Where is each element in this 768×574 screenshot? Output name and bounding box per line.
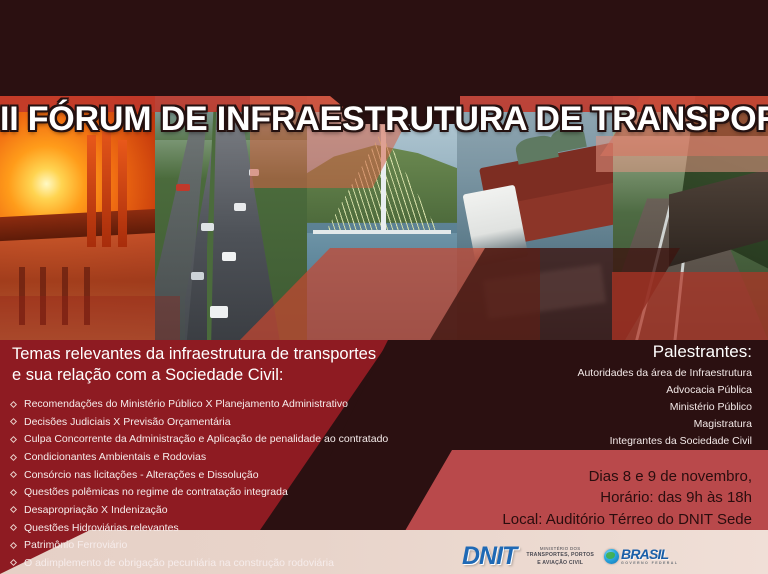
- list-item: Desapropriação X Indenização: [10, 504, 430, 517]
- vehicle: [249, 169, 259, 176]
- vehicle: [222, 252, 236, 261]
- list-item: O adimplemento de obrigação pecuniária n…: [10, 557, 430, 570]
- diamond-bullet-icon: [10, 471, 17, 478]
- logo-bar: DNIT MINISTÉRIO DOS TRANSPORTES, PORTOS …: [462, 544, 678, 569]
- theme-text: Decisões Judiciais X Previsão Orçamentár…: [24, 416, 231, 428]
- vehicle: [234, 203, 246, 211]
- event-place: Local: Auditório Térreo do DNIT Sede: [412, 509, 752, 530]
- diamond-bullet-icon: [10, 524, 17, 531]
- event-details-block: Dias 8 e 9 de novembro, Horário: das 9h …: [412, 466, 752, 530]
- diamond-bullet-icon: [10, 401, 17, 408]
- brasil-wordmark: BRASIL GOVERNO FEDERAL: [621, 547, 678, 566]
- speakers-title: Palestrantes:: [422, 342, 752, 362]
- globe-icon: [604, 549, 619, 564]
- vehicle: [201, 223, 214, 231]
- list-item: Condicionantes Ambientais e Rodovias: [10, 451, 430, 464]
- speakers-block: Palestrantes: Autoridades da área de Inf…: [422, 342, 752, 450]
- list-item: Magistratura: [422, 416, 752, 433]
- diamond-bullet-icon: [10, 436, 17, 443]
- diamond-bullet-icon: [10, 542, 17, 549]
- theme-text: Consórcio nas licitações - Alterações e …: [24, 469, 259, 481]
- bridge-deck: [313, 230, 451, 234]
- bridge-pylon: [102, 120, 111, 247]
- list-item: Questões polêmicas no regime de contrata…: [10, 486, 430, 499]
- theme-text: O adimplemento de obrigação pecuniária n…: [24, 557, 334, 569]
- bridge-tower: [381, 125, 386, 232]
- themes-heading-line-2: e sua relação com a Sociedade Civil:: [12, 366, 283, 384]
- list-item: Recomendações do Ministério Público X Pl…: [10, 398, 430, 411]
- speakers-list: Autoridades da área de Infraestrutura Ad…: [422, 365, 752, 450]
- list-item: Questões Hidroviárias relevantes: [10, 522, 430, 535]
- bridge-pylon: [87, 135, 96, 247]
- list-item: Advocacia Pública: [422, 382, 752, 399]
- themes-block: Temas relevantes da infraestrutura de tr…: [10, 344, 430, 574]
- theme-text: Patrimônio Ferroviário: [24, 539, 127, 551]
- bus: [176, 184, 190, 191]
- brasil-government-logo: BRASIL GOVERNO FEDERAL: [604, 547, 678, 566]
- brasil-sub-text: GOVERNO FEDERAL: [621, 562, 678, 566]
- themes-heading-line-1: Temas relevantes da infraestrutura de tr…: [12, 345, 376, 363]
- dnit-logo: DNIT: [462, 544, 516, 569]
- theme-text: Questões polêmicas no regime de contrata…: [24, 486, 288, 498]
- diamond-bullet-icon: [10, 489, 17, 496]
- list-item: Culpa Concorrente da Administração e Apl…: [10, 433, 430, 446]
- water-wake: [483, 264, 606, 319]
- list-item: Autoridades da área de Infraestrutura: [422, 365, 752, 382]
- theme-text: Desapropriação X Indenização: [24, 504, 168, 516]
- bus: [210, 306, 228, 318]
- list-item: Ministério Público: [422, 399, 752, 416]
- themes-heading: Temas relevantes da infraestrutura de tr…: [12, 344, 430, 386]
- event-time: Horário: das 9h às 18h: [412, 487, 752, 508]
- diamond-bullet-icon: [10, 559, 17, 566]
- diamond-bullet-icon: [10, 418, 17, 425]
- river-water: [307, 233, 457, 340]
- bridge-pier: [84, 267, 90, 326]
- theme-text: Culpa Concorrente da Administração e Apl…: [24, 433, 388, 445]
- bridge-pier: [19, 267, 25, 326]
- theme-text: Recomendações do Ministério Público X Pl…: [24, 398, 348, 410]
- diamond-bullet-icon: [10, 506, 17, 513]
- themes-list: Recomendações do Ministério Público X Pl…: [10, 398, 430, 570]
- diamond-bullet-icon: [10, 454, 17, 461]
- ministry-logo: MINISTÉRIO DOS TRANSPORTES, PORTOS E AVI…: [526, 546, 594, 567]
- event-dates: Dias 8 e 9 de novembro,: [412, 466, 752, 487]
- list-item: Integrantes da Sociedade Civil: [422, 433, 752, 450]
- brasil-main-text: BRASIL: [621, 547, 678, 561]
- bridge-pylon: [118, 140, 127, 247]
- vehicle: [191, 272, 204, 280]
- list-item: Patrimônio Ferroviário: [10, 539, 430, 552]
- theme-text: Questões Hidroviárias relevantes: [24, 522, 179, 534]
- bridge-pier: [40, 267, 46, 326]
- ministry-line-3: E AVIAÇÃO CIVIL: [526, 560, 594, 568]
- bridge-pier: [62, 267, 68, 326]
- ministry-line-2: TRANSPORTES, PORTOS: [526, 552, 594, 560]
- poster-header: [0, 0, 768, 96]
- event-poster: O Departamento Nacional de Infraestrutur…: [0, 0, 768, 574]
- poster-title: II FÓRUM DE INFRAESTRUTURA DE TRANSPORTE…: [0, 100, 768, 139]
- theme-text: Condicionantes Ambientais e Rodovias: [24, 451, 206, 463]
- list-item: Consórcio nas licitações - Alterações e …: [10, 469, 430, 482]
- list-item: Decisões Judiciais X Previsão Orçamentár…: [10, 416, 430, 429]
